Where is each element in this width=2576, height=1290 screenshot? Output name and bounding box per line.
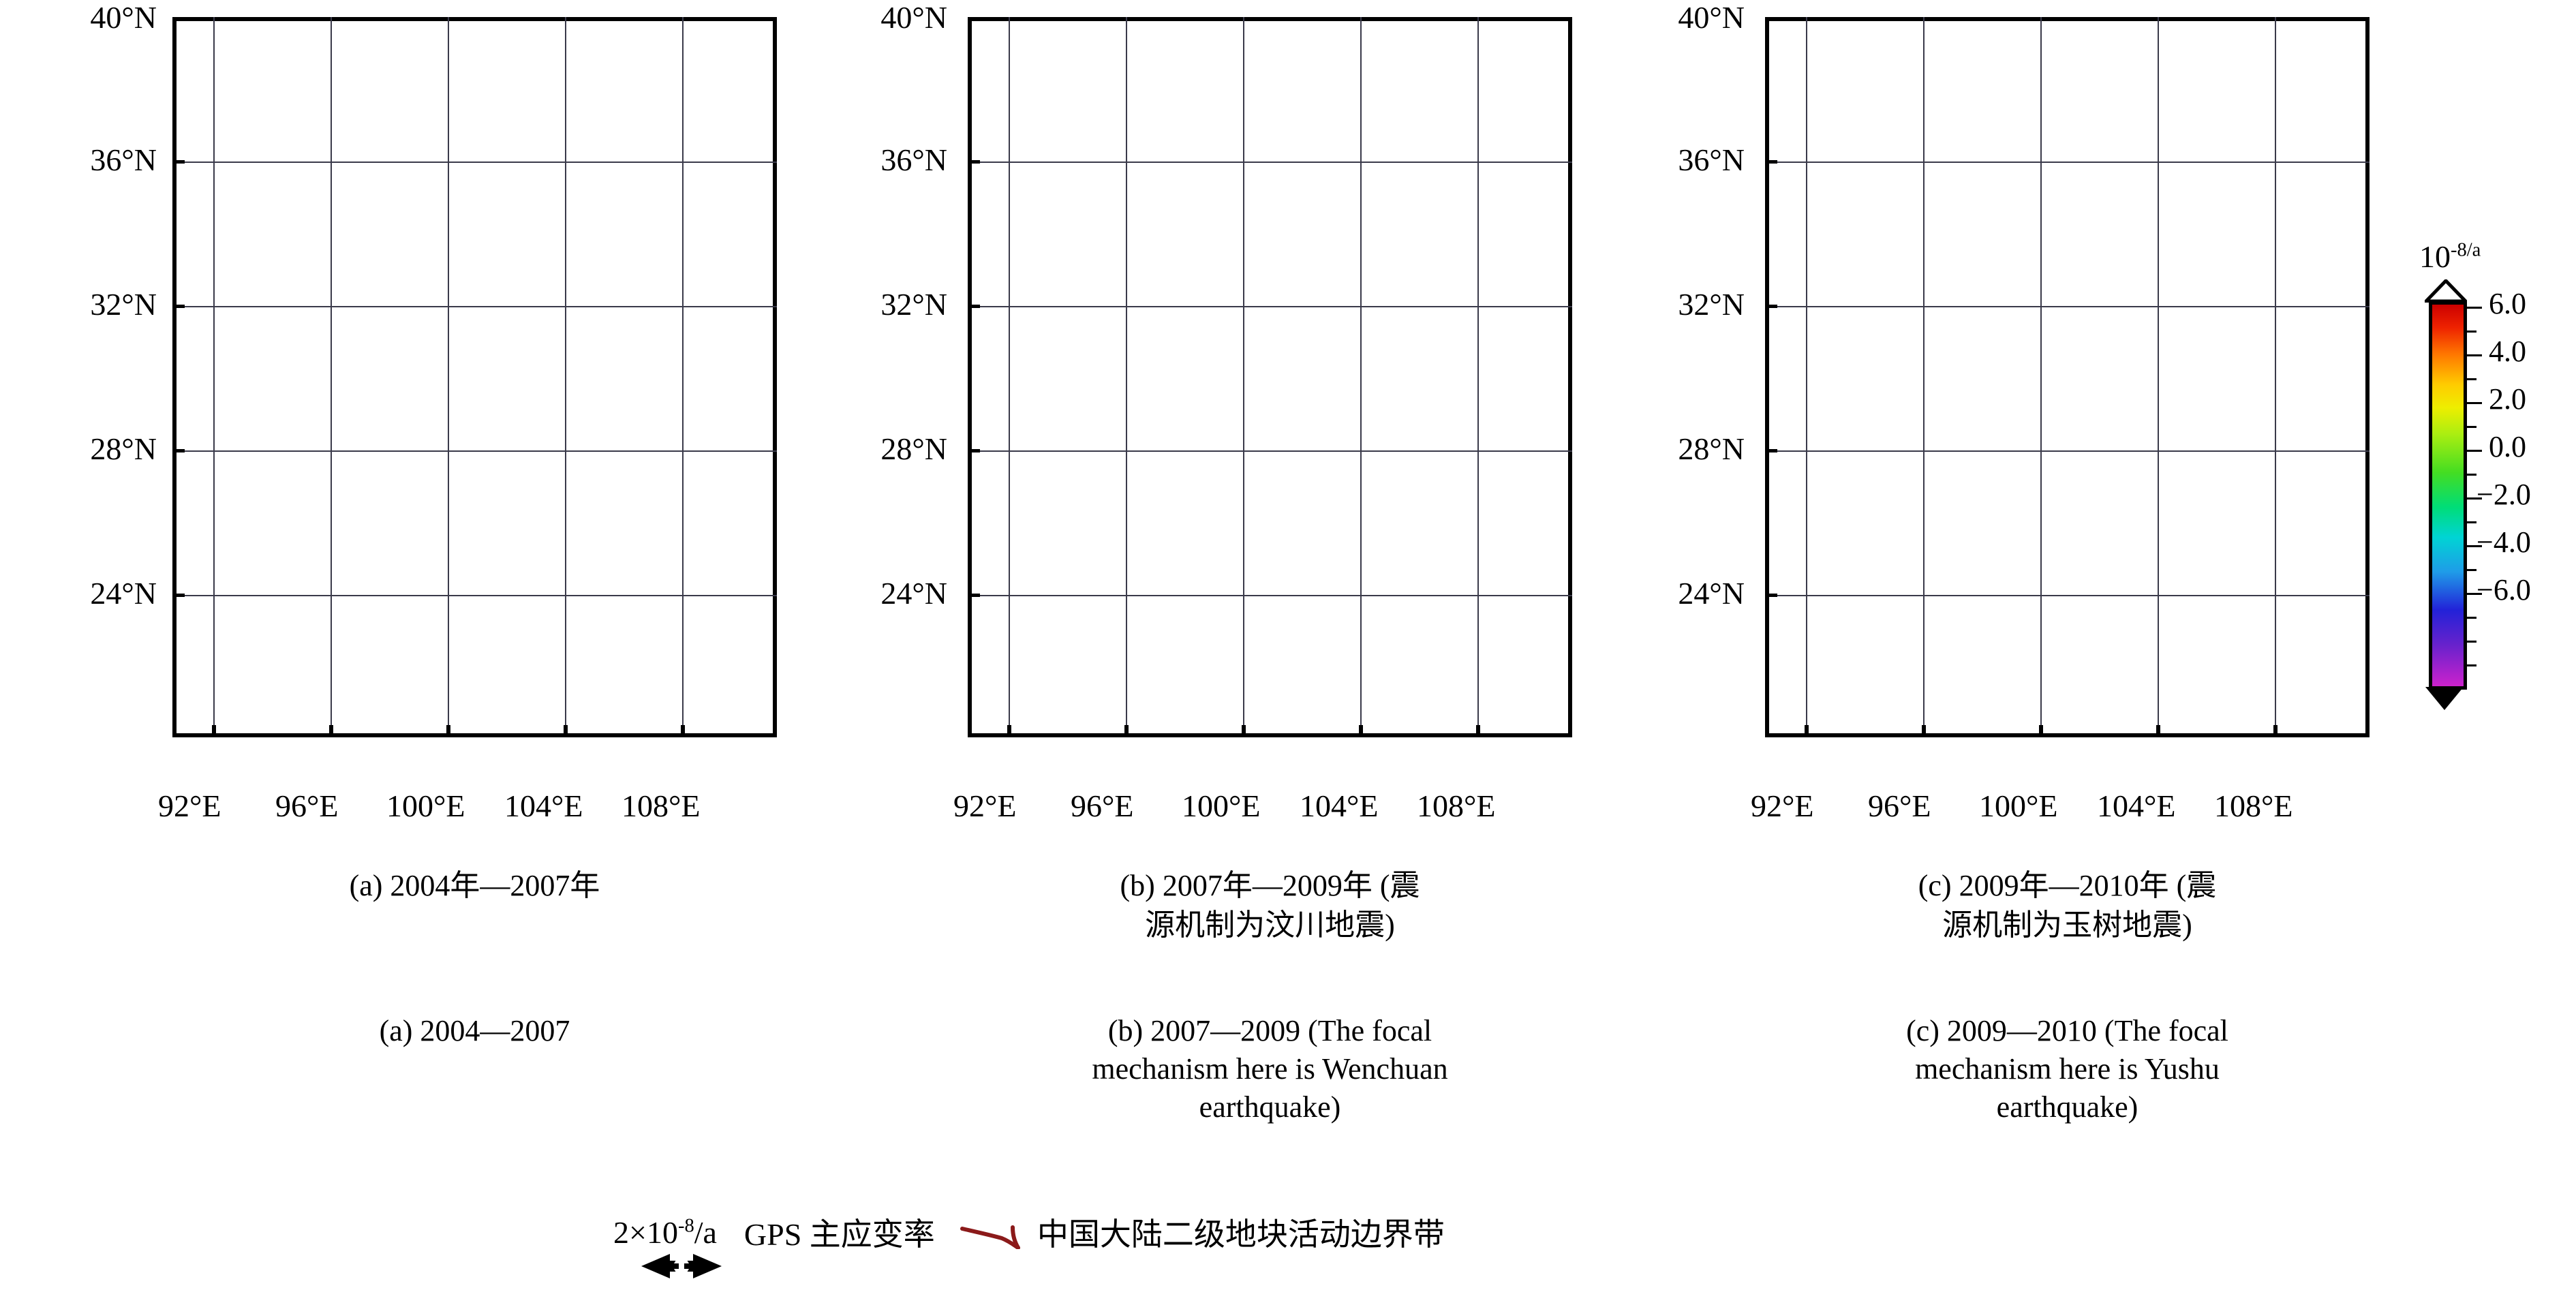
gridline-b-lon-108 — [1477, 17, 1479, 737]
ylabel-c-40N: 40°N — [1588, 2, 1745, 33]
gridline-c-lon-92 — [1806, 17, 1807, 737]
gridline-lon-108 — [682, 17, 684, 737]
legend-strain-label: GPS 主应变率 — [744, 1210, 935, 1255]
xlabel-b-96E: 96°E — [1071, 790, 1134, 822]
caption-a-en: (a) 2004—2007 — [172, 1012, 777, 1050]
ytick-28 — [172, 449, 185, 452]
ylabel-c-32N: 32°N — [1588, 289, 1745, 320]
ytick-32 — [172, 305, 185, 308]
gridline-lat-28 — [172, 450, 777, 452]
ylabel-36N: 36°N — [0, 144, 157, 176]
gridline-b-lat-32 — [968, 306, 1572, 307]
ytick-24 — [172, 594, 185, 597]
xtick-c-108 — [2273, 725, 2278, 737]
xtick-92 — [212, 725, 216, 737]
colorbar-title: 10-8/a — [2419, 239, 2481, 275]
ylabel-b-28N: 28°N — [791, 433, 947, 465]
gridline-lat-32 — [172, 306, 777, 307]
xtick-c-92 — [1805, 725, 1809, 737]
panel-c — [1765, 17, 2370, 737]
gridline-c-lat-32 — [1765, 306, 2370, 307]
legend-scale-number: 2×10 — [613, 1215, 678, 1250]
xlabel-a-96E: 96°E — [275, 790, 339, 822]
legend-scale-unit: /a — [694, 1215, 717, 1250]
gridline-c-lat-36 — [1765, 162, 2370, 163]
ytick-b-28 — [968, 449, 980, 452]
colorbar-minortick-5 — [2464, 521, 2477, 523]
caption-c-en-line2: mechanism here is Yushu — [1765, 1050, 2370, 1088]
legend-scale-value: 2×10-8/a — [613, 1214, 717, 1250]
gridline-c-lat-24 — [1765, 595, 2370, 596]
gridline-b-lon-92 — [1009, 17, 1010, 737]
legend-fault-label: 中国大陆二级地块活动边界带 — [1037, 1210, 1445, 1255]
gridline-c-lon-100 — [2040, 17, 2042, 737]
colorbar: 10-8/a 6.0 4.0 2.0 0.0 −2.0 −4.0 −6.0 — [2412, 239, 2576, 756]
panel-a-frame — [172, 17, 777, 737]
colorbar-tick-6 — [2464, 307, 2482, 309]
xtick-c-96 — [1922, 725, 1926, 737]
xlabel-c-96E: 96°E — [1868, 790, 1931, 822]
ytick-c-24 — [1765, 594, 1777, 597]
legend-strain-scale-arrow-icon — [637, 1246, 726, 1287]
gridline-b-lon-100 — [1243, 17, 1244, 737]
ytick-c-36 — [1765, 160, 1777, 164]
panel-b — [968, 17, 1572, 737]
gridline-c-lon-96 — [1923, 17, 1925, 737]
panel-a — [172, 17, 777, 737]
colorbar-title-exp: -8/a — [2451, 240, 2481, 261]
colorbar-extend-down-arrow — [2425, 687, 2464, 710]
ylabel-b-32N: 32°N — [791, 289, 947, 320]
colorbar-gradient — [2429, 301, 2467, 690]
ytick-c-32 — [1765, 305, 1777, 308]
xtick-c-104 — [2156, 725, 2160, 737]
caption-b-cn-line1: (b) 2007年—2009年 (震 — [968, 867, 1572, 905]
caption-b-en-line2: mechanism here is Wenchuan — [968, 1050, 1572, 1088]
gridline-lat-24 — [172, 595, 777, 596]
colorbar-minortick-9 — [2464, 664, 2477, 666]
xlabel-a-104E: 104°E — [504, 790, 583, 822]
colorbar-minortick-6 — [2464, 569, 2477, 571]
xtick-c-100 — [2039, 725, 2043, 737]
gridline-b-lat-24 — [968, 595, 1572, 596]
colorbar-label-n6: −6.0 — [2477, 575, 2531, 605]
gridline-b-lon-104 — [1360, 17, 1362, 737]
colorbar-label-6: 6.0 — [2489, 289, 2526, 319]
xlabel-c-92E: 92°E — [1751, 790, 1814, 822]
ytick-b-36 — [968, 160, 980, 164]
xlabel-b-108E: 108°E — [1417, 790, 1496, 822]
caption-b-en-line1: (b) 2007—2009 (The focal — [968, 1012, 1572, 1050]
gridline-c-lat-28 — [1765, 450, 2370, 452]
xlabel-b-100E: 100°E — [1182, 790, 1261, 822]
colorbar-tick-0 — [2464, 450, 2482, 452]
gridline-b-lat-36 — [968, 162, 1572, 163]
gridline-lon-104 — [565, 17, 566, 737]
xlabel-b-92E: 92°E — [953, 790, 1017, 822]
xlabel-c-100E: 100°E — [1979, 790, 2058, 822]
xtick-b-96 — [1124, 725, 1129, 737]
ylabel-b-24N: 24°N — [791, 578, 947, 609]
xlabel-a-92E: 92°E — [158, 790, 221, 822]
colorbar-tick-2 — [2464, 402, 2482, 404]
caption-c-cn-line2: 源机制为玉树地震) — [1765, 906, 2370, 945]
panel-c-frame — [1765, 17, 2370, 737]
caption-b-cn-line2: 源机制为汶川地震) — [968, 906, 1572, 945]
colorbar-title-base: 10 — [2419, 239, 2451, 274]
gridline-lon-100 — [448, 17, 449, 737]
colorbar-minortick-1 — [2464, 331, 2477, 333]
ylabel-24N: 24°N — [0, 578, 157, 609]
ylabel-28N: 28°N — [0, 433, 157, 465]
ylabel-b-36N: 36°N — [791, 144, 947, 176]
caption-c-cn-line1: (c) 2009年—2010年 (震 — [1765, 867, 2370, 905]
caption-c-en-line3: earthquake) — [1765, 1088, 2370, 1126]
ylabel-40N: 40°N — [0, 2, 157, 33]
panel-b-frame — [968, 17, 1572, 737]
ylabel-c-36N: 36°N — [1588, 144, 1745, 176]
ylabel-c-28N: 28°N — [1588, 433, 1745, 465]
xlabel-a-108E: 108°E — [622, 790, 701, 822]
xlabel-b-104E: 104°E — [1300, 790, 1379, 822]
caption-c-en-line1: (c) 2009—2010 (The focal — [1765, 1012, 2370, 1050]
xlabel-c-108E: 108°E — [2214, 790, 2293, 822]
ytick-36 — [172, 160, 185, 164]
legend-scale-exponent: -8 — [678, 1215, 694, 1236]
ytick-b-32 — [968, 305, 980, 308]
xtick-b-100 — [1242, 725, 1246, 737]
colorbar-label-0: 0.0 — [2489, 432, 2526, 462]
colorbar-minortick-4 — [2464, 474, 2477, 476]
colorbar-minortick-3 — [2464, 426, 2477, 428]
xtick-104 — [564, 725, 568, 737]
colorbar-tick-4 — [2464, 354, 2482, 356]
figure-legend: 2×10-8/a GPS 主应变率 中国大陆二级地块活动边界带 — [613, 1210, 1445, 1255]
colorbar-minortick-2 — [2464, 378, 2477, 380]
xtick-100 — [446, 725, 450, 737]
colorbar-minortick-7 — [2464, 617, 2477, 619]
xlabel-c-104E: 104°E — [2097, 790, 2176, 822]
colorbar-label-4: 4.0 — [2489, 337, 2526, 367]
ylabel-b-40N: 40°N — [791, 2, 947, 33]
ytick-b-24 — [968, 594, 980, 597]
gridline-lon-92 — [213, 17, 215, 737]
gridline-b-lon-96 — [1126, 17, 1127, 737]
xlabel-a-100E: 100°E — [386, 790, 465, 822]
gridline-c-lon-104 — [2158, 17, 2159, 737]
xtick-96 — [329, 725, 333, 737]
gridline-lat-36 — [172, 162, 777, 163]
gridline-c-lon-108 — [2275, 17, 2276, 737]
xtick-b-108 — [1476, 725, 1480, 737]
caption-a-cn: (a) 2004年—2007年 — [172, 867, 777, 905]
caption-b-en-line3: earthquake) — [968, 1088, 1572, 1126]
legend-fault-line-icon — [960, 1215, 1034, 1249]
gridline-lon-96 — [331, 17, 332, 737]
xtick-108 — [681, 725, 685, 737]
xtick-b-104 — [1359, 725, 1363, 737]
gridline-b-lat-28 — [968, 450, 1572, 452]
colorbar-extend-up-arrow — [2425, 279, 2467, 303]
ylabel-c-24N: 24°N — [1588, 578, 1745, 609]
colorbar-label-n2: −2.0 — [2477, 480, 2531, 510]
colorbar-label-n4: −4.0 — [2477, 527, 2531, 557]
xtick-b-92 — [1007, 725, 1011, 737]
colorbar-minortick-8 — [2464, 641, 2477, 643]
ytick-c-28 — [1765, 449, 1777, 452]
colorbar-label-2: 2.0 — [2489, 384, 2526, 414]
ylabel-32N: 32°N — [0, 289, 157, 320]
